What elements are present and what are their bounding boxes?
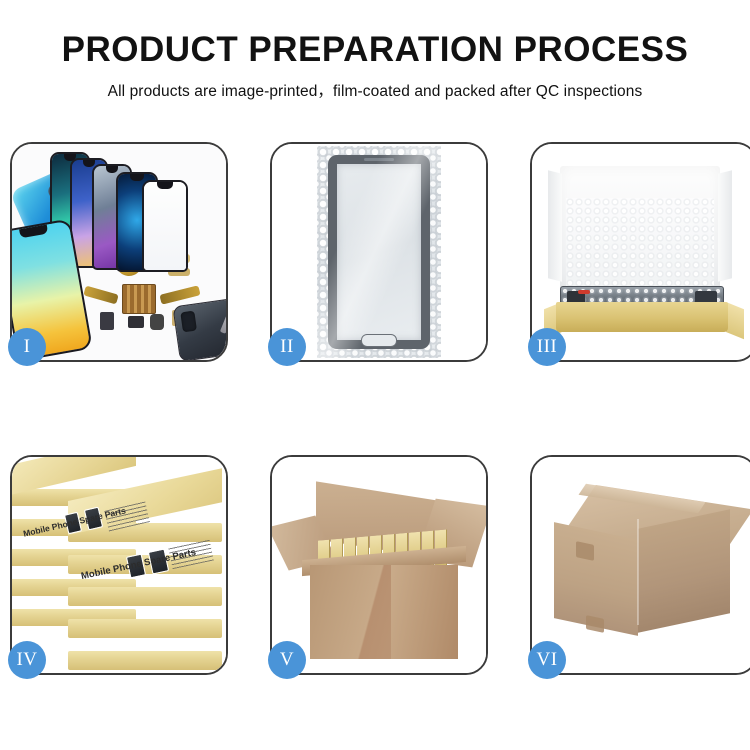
- box-stack: Mobile Phone Spare Parts Mobile Phone Sp…: [12, 475, 226, 671]
- sealed-carton-illustration: [532, 457, 750, 673]
- step-panel-6: VI: [530, 455, 750, 675]
- phone-device-1: [142, 180, 188, 272]
- step-badge-6: VI: [528, 641, 566, 679]
- step-panel-5: V: [270, 455, 488, 675]
- product-preparation-process-page: PRODUCT PREPARATION PROCESS All products…: [0, 0, 750, 750]
- front-box-4: [68, 619, 222, 638]
- carton-right-face: [638, 509, 730, 633]
- flex-ribbon-left-icon: [83, 286, 118, 305]
- page-subtitle: All products are image-printed，film-coat…: [0, 79, 750, 101]
- step-image-5: [272, 457, 486, 673]
- carton-body: [310, 565, 458, 659]
- step-image-2: [272, 144, 486, 360]
- phone-back-cover-icon: [172, 298, 226, 360]
- step-image-1: [12, 144, 226, 360]
- phone-screens-and-spare-parts-illustration: [12, 144, 226, 360]
- step-badge-2: II: [268, 328, 306, 366]
- flex-ribbon-right-icon: [159, 285, 200, 304]
- open-carton-with-boxes-illustration: [272, 457, 486, 673]
- carton-handle-tab-bottom: [586, 615, 604, 633]
- small-part-3-icon: [150, 314, 164, 330]
- screen-in-open-kraft-box-illustration: [532, 144, 750, 360]
- step-panel-3: III: [530, 142, 750, 362]
- kraft-box-base: [556, 302, 728, 332]
- step-panel-2: II: [270, 142, 488, 362]
- step-badge-4: IV: [8, 641, 46, 679]
- foam-padding: [566, 198, 714, 290]
- step-image-6: [532, 457, 750, 673]
- step-panel-1: I: [10, 142, 228, 362]
- stacked-kraft-boxes-illustration: Mobile Phone Spare Parts Mobile Phone Sp…: [12, 457, 226, 673]
- page-title: PRODUCT PREPARATION PROCESS: [0, 28, 750, 72]
- front-box-3: [68, 587, 222, 606]
- bubble-wrap-sheet: [317, 146, 441, 358]
- step-badge-1: I: [8, 328, 46, 366]
- chip-array-icon: [122, 284, 156, 314]
- carton-front-edge: [637, 519, 639, 625]
- process-steps-grid: I II: [10, 142, 740, 675]
- step-badge-3: III: [528, 328, 566, 366]
- box-flap-right: [726, 302, 744, 339]
- step-image-4: Mobile Phone Spare Parts Mobile Phone Sp…: [12, 457, 226, 673]
- front-box-5: [68, 651, 222, 670]
- phone-front-glass: [328, 155, 430, 349]
- small-part-2-icon: [128, 316, 144, 328]
- header: PRODUCT PREPARATION PROCESS All products…: [0, 28, 750, 101]
- step-panel-4: Mobile Phone Spare Parts Mobile Phone Sp…: [10, 455, 228, 675]
- step-badge-5: V: [268, 641, 306, 679]
- bubble-wrapped-screen-illustration: [272, 144, 486, 360]
- small-part-1-icon: [100, 312, 114, 330]
- red-marker-label: [578, 290, 590, 294]
- step-image-3: [532, 144, 750, 360]
